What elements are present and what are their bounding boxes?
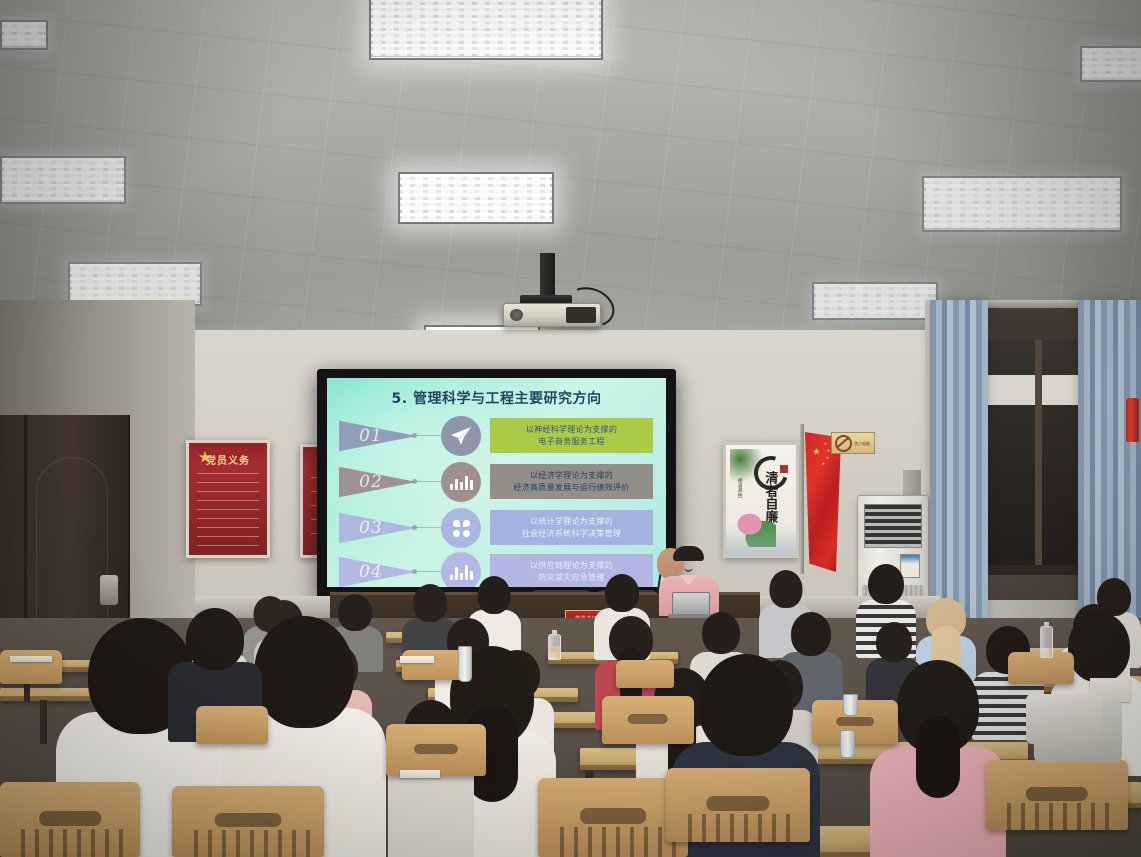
person-ponytail — [916, 716, 960, 798]
person-head — [876, 622, 912, 662]
presenter-eye-right — [693, 559, 697, 561]
chair-back-left-2[interactable] — [196, 706, 268, 744]
chair-front-left-2[interactable] — [172, 786, 324, 857]
row-1-number-triangle: 01 — [339, 417, 417, 455]
chair-slats — [11, 829, 129, 857]
flag-star-4 — [822, 462, 825, 465]
person-head — [770, 570, 803, 608]
person-head — [1068, 612, 1130, 682]
jacket-on-chair[interactable] — [1026, 694, 1102, 744]
notebook-left[interactable] — [400, 656, 434, 663]
chair-handle-slot — [414, 744, 458, 754]
bar-chart-icon — [450, 475, 473, 490]
row-3-icon-circle — [441, 508, 481, 548]
chair-handle-slot — [706, 796, 769, 811]
presenter-eye-left — [680, 559, 684, 561]
four-petal-icon — [453, 520, 470, 537]
row-2-number-triangle: 02 — [339, 463, 417, 501]
water-bottle-2[interactable] — [548, 634, 561, 660]
door-handle[interactable] — [100, 575, 118, 605]
row-2-text-box: 以经济学理论为支撑的 经济高质量发展与运行绩效评价 — [490, 464, 653, 499]
poster-body-lines — [197, 473, 259, 547]
presenter-face — [680, 559, 697, 568]
thermos-center[interactable] — [458, 646, 472, 682]
paper-stack-left[interactable] — [10, 656, 52, 662]
slide-row-3: 03 以统计学理论为支撑的 社会经济系统科学决策管理 — [327, 506, 666, 549]
chair-slats — [997, 803, 1116, 830]
ceiling-projector — [503, 303, 601, 327]
chair-handle-slot — [215, 813, 282, 827]
party-duties-poster-title: 党员义务 — [189, 452, 267, 467]
ac-vent-grille — [864, 504, 922, 548]
flag-star-3 — [826, 456, 829, 459]
chair-handle-slot — [39, 811, 101, 826]
paper-plane-icon — [450, 426, 472, 446]
row-2-line-1: 以经济学理论为支撑的 — [530, 471, 613, 481]
water-wash — [726, 525, 796, 555]
chair-front-left-1[interactable] — [0, 782, 140, 857]
chair-handle-slot — [836, 717, 874, 726]
row-1-line-2: 电子商务服务工程 — [538, 437, 604, 447]
projector-lens-icon — [510, 309, 523, 321]
row-3-line-1: 以统计学理论为支撑的 — [530, 517, 613, 527]
person-head — [186, 608, 244, 670]
no-smoking-icon — [835, 435, 852, 452]
flag-star-large — [813, 448, 820, 455]
drinking-cup-1[interactable] — [843, 694, 858, 716]
classroom-door[interactable] — [0, 415, 130, 650]
ceiling-light-1 — [369, 0, 603, 60]
row-2-number: 02 — [359, 472, 383, 492]
projector-ports — [566, 307, 596, 323]
person-head — [605, 574, 639, 612]
row-2-line-2: 经济高质量发展与运行绩效评价 — [513, 483, 629, 493]
paper-stack-center[interactable] — [400, 770, 440, 778]
chair-mid-left[interactable] — [386, 724, 486, 776]
ceiling-light-8 — [812, 282, 938, 320]
door-jamb — [24, 415, 27, 650]
row-1-number: 01 — [359, 426, 383, 446]
window-mullion — [1035, 340, 1042, 565]
presentation-slide[interactable]: 5. 管理科学与工程主要研究方向 01 以神经科学理论为支撑的 电子商务服务工程 — [327, 378, 666, 587]
door-panel — [36, 457, 108, 632]
seal-stamp-icon — [780, 465, 788, 473]
ceiling-light-10 — [1080, 46, 1141, 82]
ceiling-light-2 — [398, 172, 554, 224]
ceiling-light-4 — [0, 156, 126, 204]
row-1-text-box: 以神经科学理论为支撑的 电子商务服务工程 — [490, 418, 653, 453]
chair-slats — [184, 830, 312, 857]
person-head — [699, 654, 793, 756]
no-smoking-sign: 禁止吸烟 — [831, 432, 875, 454]
water-bottle-1[interactable] — [1040, 626, 1053, 658]
chair-back-right-2[interactable] — [616, 660, 674, 688]
no-smoking-label: 禁止吸烟 — [854, 441, 870, 446]
ceiling-light-7 — [922, 176, 1122, 232]
person-head — [791, 612, 831, 656]
fire-extinguisher — [1126, 398, 1139, 442]
drinking-cup-2[interactable] — [840, 730, 855, 758]
person-head — [868, 564, 904, 604]
row-4-number-triangle: 04 — [339, 553, 417, 587]
slide-title: 5. 管理科学与工程主要研究方向 — [327, 388, 666, 408]
row-1-icon-circle — [441, 416, 481, 456]
person-head — [413, 584, 447, 622]
row-1-line-1: 以神经科学理论为支撑的 — [526, 425, 617, 435]
slide-row-1: 01 以神经科学理论为支撑的 电子商务服务工程 — [327, 414, 666, 457]
curtain-left[interactable] — [930, 300, 988, 630]
desk-leg-2 — [40, 700, 47, 744]
row-4-line-1: 以供应链理论为支撑的 — [530, 561, 613, 571]
party-duties-poster: 党员义务 — [186, 440, 270, 558]
person-head — [254, 616, 354, 728]
person-head — [478, 576, 511, 614]
row-2-icon-circle — [441, 462, 481, 502]
ceiling-light-11 — [0, 20, 48, 50]
projection-screen-bezel: 5. 管理科学与工程主要研究方向 01 以神经科学理论为支撑的 电子商务服务工程 — [317, 369, 676, 598]
row-3-text-box: 以统计学理论为支撑的 社会经济系统科学决策管理 — [490, 510, 653, 545]
chair-handle-slot — [1026, 787, 1088, 801]
chair-back-center[interactable] — [402, 650, 464, 680]
chair-front-center-2[interactable] — [666, 768, 810, 842]
chair-slats — [678, 814, 799, 842]
row-3-line-2: 社会经济系统科学决策管理 — [522, 529, 622, 539]
calligraphy-side-text: 修身养性 — [736, 478, 743, 498]
presenter-mouth — [684, 567, 693, 572]
row-3-number-triangle: 03 — [339, 509, 417, 547]
row-4-number: 04 — [359, 562, 383, 582]
chair-front-right[interactable] — [986, 760, 1128, 830]
flag-pole — [800, 424, 804, 574]
chair-handle-slot — [628, 714, 668, 724]
chair-mid-center[interactable] — [602, 696, 694, 744]
slide-row-2: 02 以经济学理论为支撑的 经济高质量发展与运行绩效评价 — [327, 460, 666, 503]
chair-handle-slot — [580, 808, 646, 824]
flag-star-2 — [827, 449, 830, 452]
flag-star-1 — [824, 442, 827, 445]
lecture-hall-photo: 党员义务 清者自廉 修身养性 禁止吸烟 — [0, 0, 1141, 857]
row-3-number: 03 — [359, 518, 383, 538]
chair-slats — [550, 827, 676, 857]
calligraphy-poster: 清者自廉 修身养性 — [723, 442, 799, 558]
person-head — [702, 612, 740, 654]
